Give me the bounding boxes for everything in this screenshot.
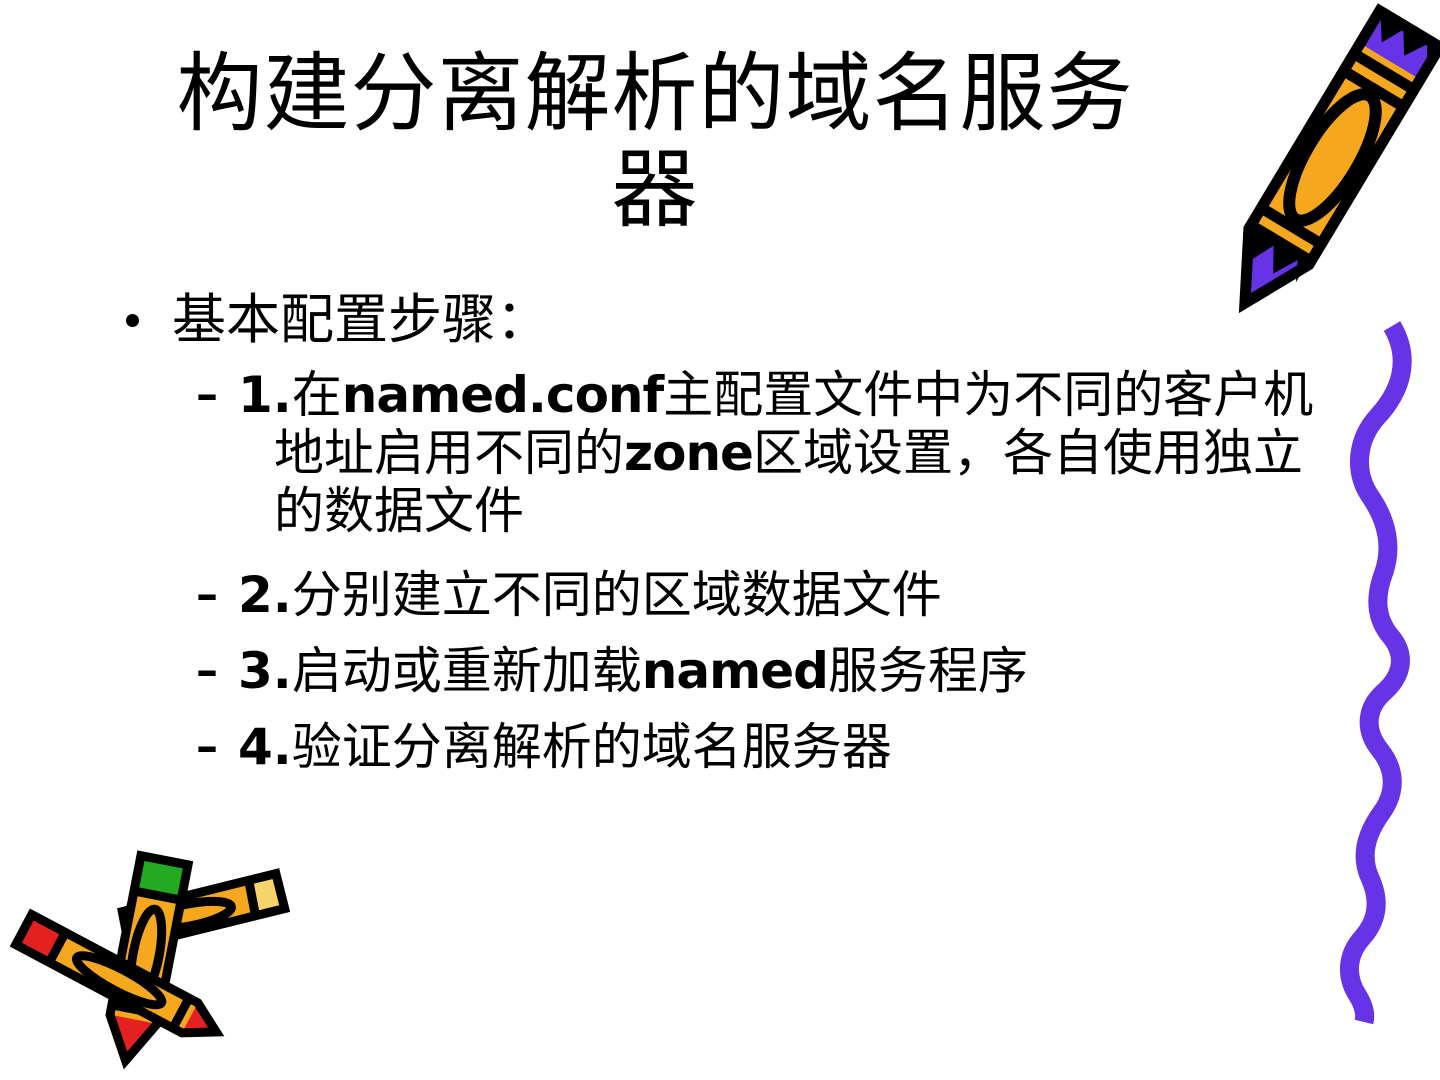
list-item-part-latin: named <box>642 642 828 700</box>
list-item-text: 3.启动或重新加载named服务程序 <box>238 642 1340 700</box>
list-item-part-cjk: 验证分离解析的域名服务器 <box>292 718 892 776</box>
page-title-line-1: 构建分离解析的域名服务 <box>150 46 1160 142</box>
list-item-part-cjk: 在 <box>292 366 342 424</box>
list-item-part-latin: named.conf <box>342 366 663 424</box>
list-item-part-cjk: 分别建立不同的区域数据文件 <box>292 566 942 624</box>
list-item-part-cjk: 启动或重新加载 <box>292 642 642 700</box>
list-item-number: 2. <box>238 566 292 624</box>
list-item-part-latin: zone <box>624 424 753 482</box>
list-item: – 3.启动或重新加载named服务程序 <box>0 642 1340 700</box>
list-item-part-cjk: 服务程序 <box>828 642 1028 700</box>
crayons-bottom-left-icon <box>0 836 314 1080</box>
bullet-list: 基本配置步骤： – 1.在named.conf主配置文件中为不同的客户机地址启用… <box>0 288 1340 776</box>
bullet-level1: 基本配置步骤： <box>0 288 1340 352</box>
bullet-dot-icon <box>126 314 139 327</box>
dash-marker-icon: – <box>196 642 230 700</box>
list-item: – 2.分别建立不同的区域数据文件 <box>0 566 1340 624</box>
bullet-level1-label: 基本配置步骤： <box>172 288 550 351</box>
list-item-text: 2.分别建立不同的区域数据文件 <box>238 566 1340 624</box>
slide-canvas: 构建分离解析的域名服务 器 基本配置步骤： – 1.在named.conf主配置… <box>0 0 1440 1080</box>
list-item-number: 1. <box>238 366 292 424</box>
list-item-text: 1.在named.conf主配置文件中为不同的客户机地址启用不同的zone区域设… <box>238 366 1340 540</box>
list-item-number: 4. <box>238 718 292 776</box>
list-item-text: 4.验证分离解析的域名服务器 <box>238 718 1340 776</box>
dash-marker-icon: – <box>196 366 230 424</box>
page-title: 构建分离解析的域名服务 器 <box>150 46 1160 238</box>
list-item-number: 3. <box>238 642 292 700</box>
list-item: – 4.验证分离解析的域名服务器 <box>0 718 1340 776</box>
page-title-line-2: 器 <box>150 142 1160 238</box>
dash-marker-icon: – <box>196 566 230 624</box>
dash-marker-icon: – <box>196 718 230 776</box>
list-item: – 1.在named.conf主配置文件中为不同的客户机地址启用不同的zone区… <box>0 366 1340 540</box>
purple-squiggle-icon <box>1330 320 1440 1034</box>
